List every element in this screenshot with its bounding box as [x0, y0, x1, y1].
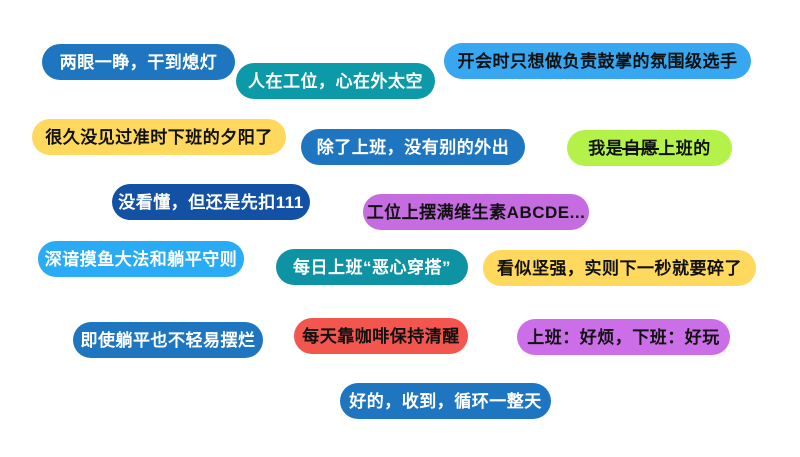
tag-label: 即使躺平也不轻易摆烂 — [81, 332, 256, 349]
tag-pill[interactable]: 上班：好烦，下班：好玩 — [517, 319, 730, 355]
tag-label: 没看懂，但还是先扣111 — [118, 194, 304, 211]
tag-pill[interactable]: 好的，收到，循环一整天 — [340, 383, 551, 419]
tag-pill[interactable]: 看似坚强，实则下一秒就要碎了 — [483, 250, 756, 286]
tag-pill[interactable]: 没看懂，但还是先扣111 — [112, 184, 310, 220]
tag-pill[interactable]: 每日上班“恶心穿搭” — [276, 249, 468, 285]
tag-pill[interactable]: 两眼一睁，干到熄灯 — [42, 44, 235, 80]
tag-pill[interactable]: 很久没见过准时下班的夕阳了 — [32, 119, 286, 155]
tag-pill[interactable]: 开会时只想做负责鼓掌的氛围级选手 — [444, 43, 751, 79]
tag-label: 很久没见过准时下班的夕阳了 — [45, 129, 273, 146]
tag-pill[interactable]: 即使躺平也不轻易摆烂 — [73, 322, 263, 358]
tag-label: 开会时只想做负责鼓掌的氛围级选手 — [458, 53, 738, 70]
tag-label: 两眼一睁，干到熄灯 — [60, 54, 218, 71]
tag-pill[interactable]: 我是自愿上班的 — [567, 130, 732, 166]
tag-label: 深谙摸鱼大法和躺平守则 — [45, 251, 238, 268]
tag-pill[interactable]: 人在工位，心在外太空 — [236, 63, 435, 99]
tag-label: 好的，收到，循环一整天 — [349, 393, 542, 410]
strikethrough-text: 自愿 — [623, 140, 658, 157]
tag-label: 看似坚强，实则下一秒就要碎了 — [497, 260, 742, 277]
tag-label: 上班：好烦，下班：好玩 — [527, 329, 720, 346]
tag-pill[interactable]: 深谙摸鱼大法和躺平守则 — [38, 241, 244, 277]
tag-label: 每日上班“恶心穿搭” — [293, 259, 451, 276]
tag-pill[interactable]: 每天靠咖啡保持清醒 — [294, 318, 468, 354]
tag-label: 工位上摆满维生素ABCDE... — [367, 204, 586, 221]
tag-label: 人在工位，心在外太空 — [248, 73, 423, 90]
tag-pill[interactable]: 工位上摆满维生素ABCDE... — [363, 194, 589, 230]
tag-label: 每天靠咖啡保持清醒 — [302, 328, 460, 345]
tag-label: 我是自愿上班的 — [588, 140, 711, 157]
tag-pill[interactable]: 除了上班，没有别的外出 — [301, 129, 525, 165]
tag-cloud-canvas: 两眼一睁，干到熄灯人在工位，心在外太空开会时只想做负责鼓掌的氛围级选手很久没见过… — [0, 0, 800, 457]
tag-label: 除了上班，没有别的外出 — [317, 139, 510, 156]
